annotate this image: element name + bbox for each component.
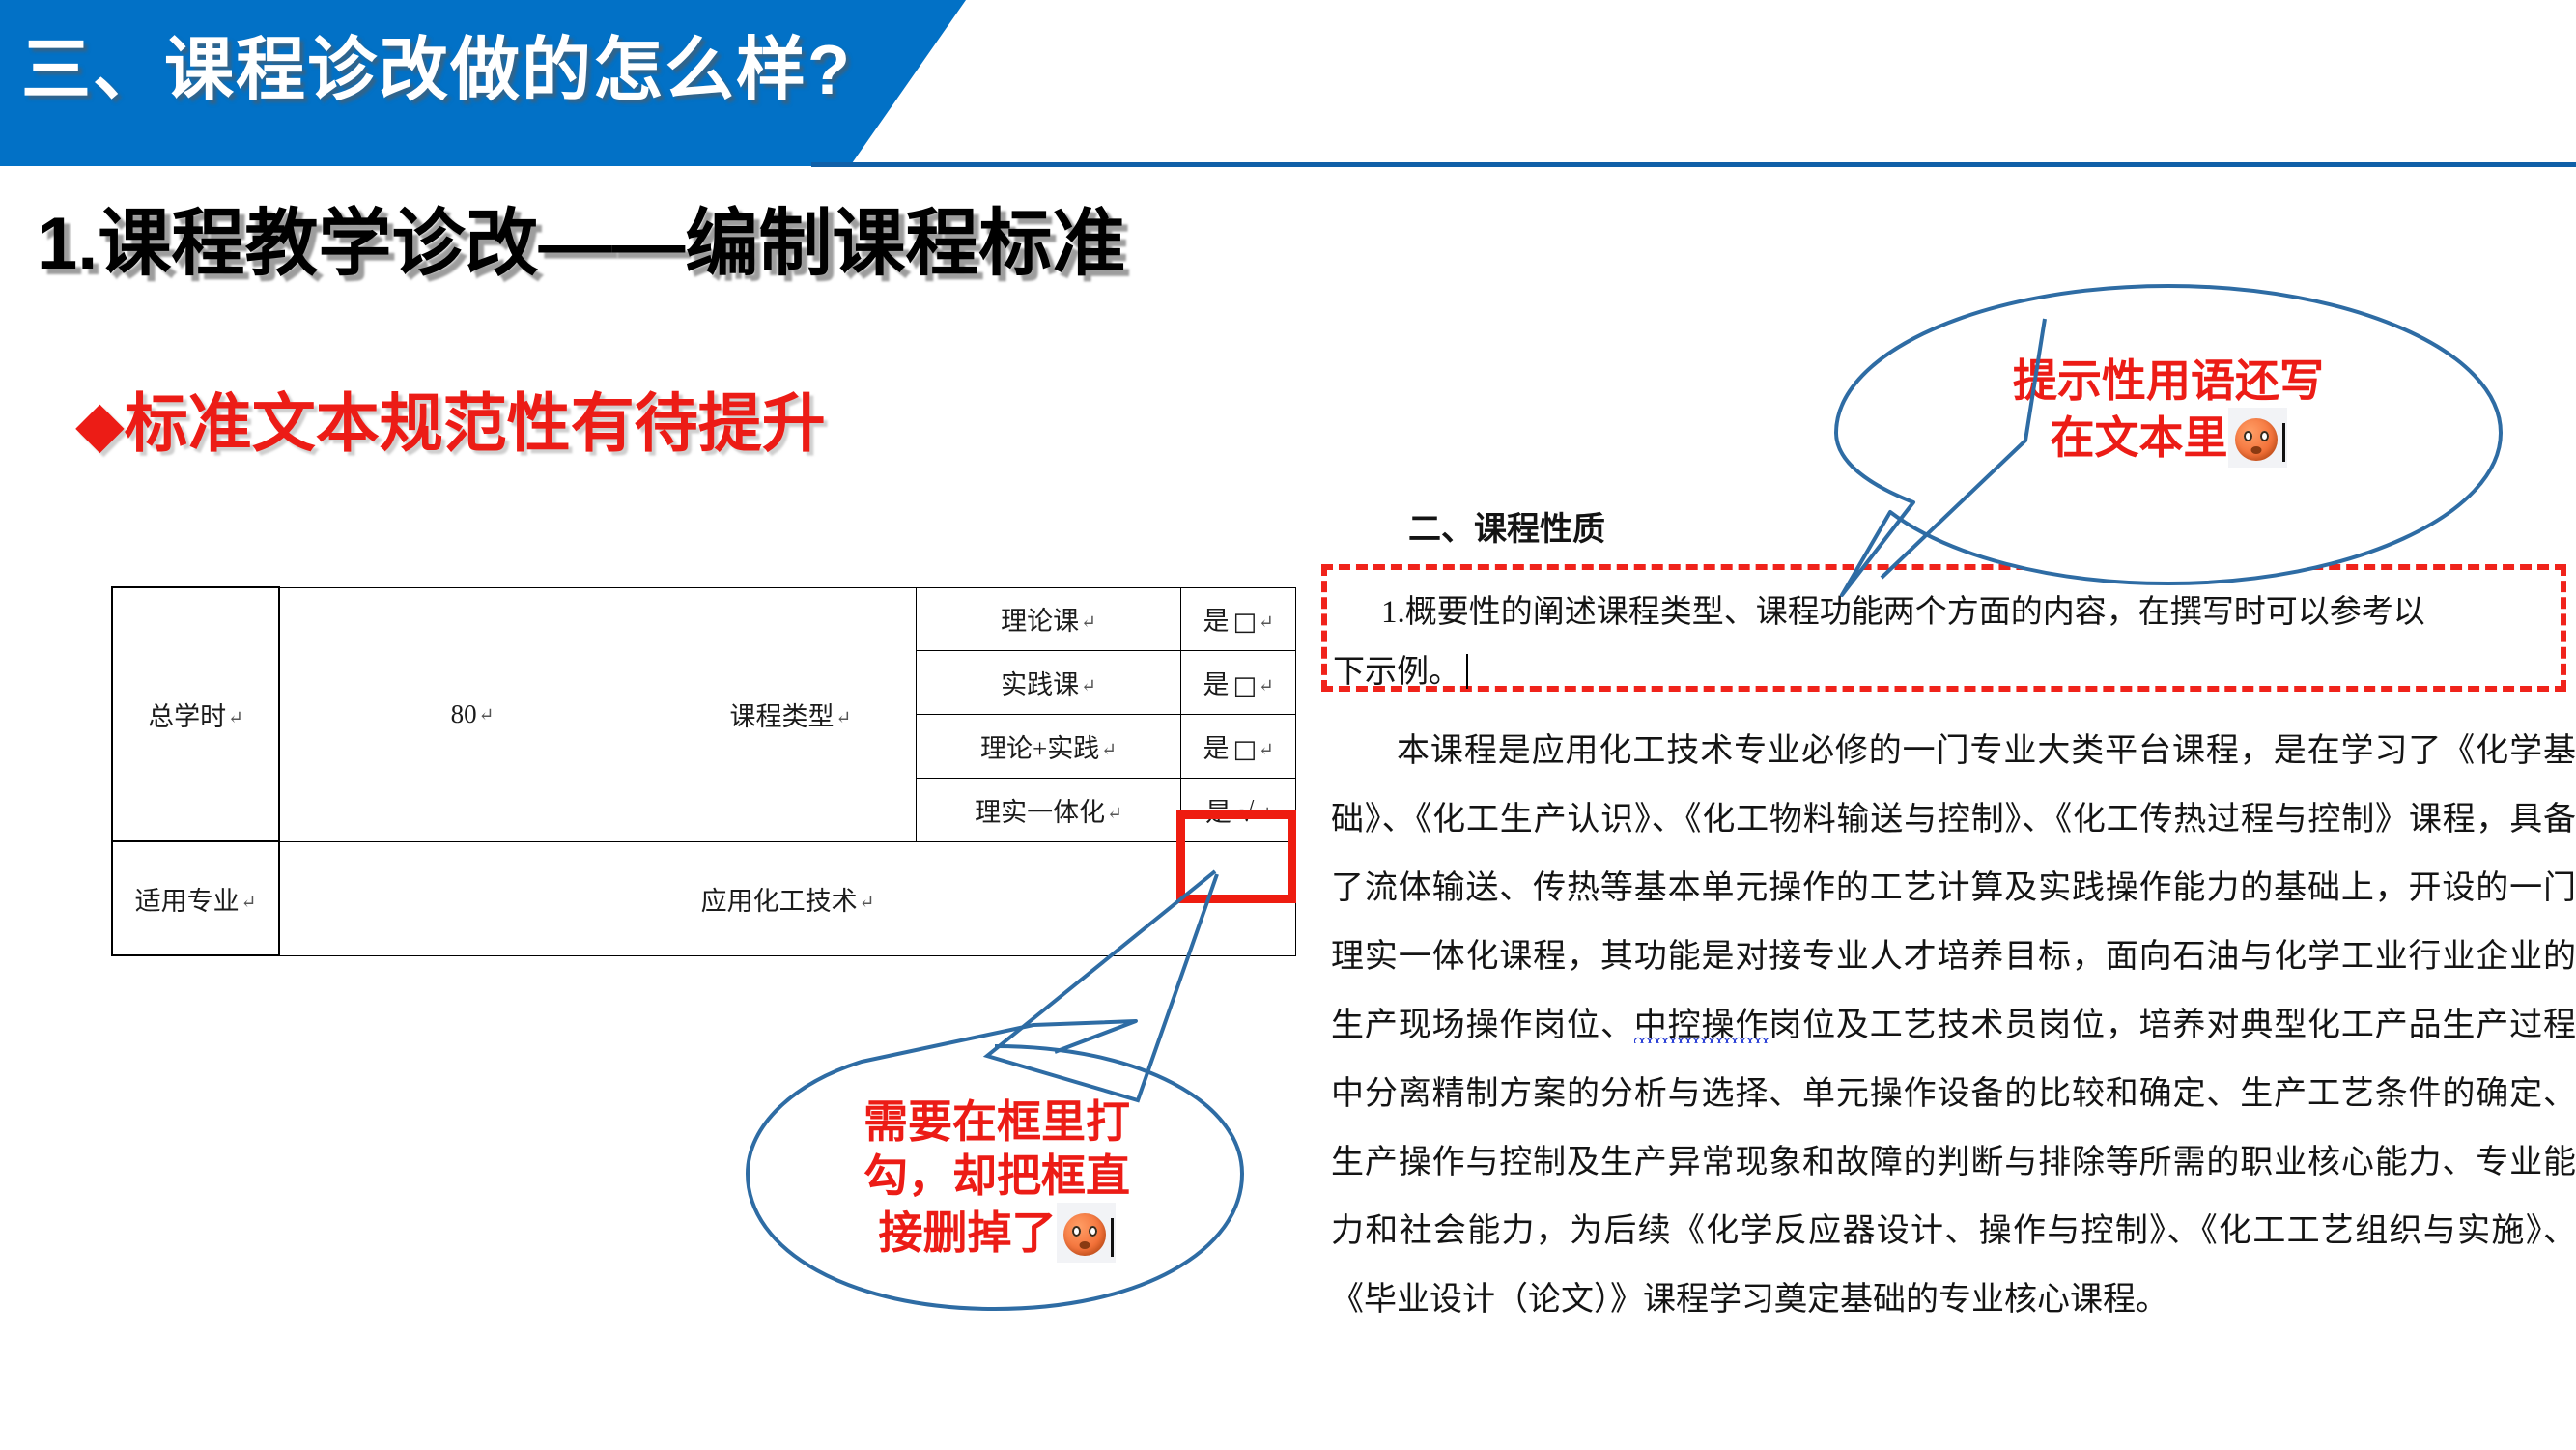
pilcrow-icon: ↵ [1081, 676, 1096, 697]
body-paragraph: 本课程是应用化工技术专业必修的一门专业大类平台课程，是在学习了《化学基础》、《化… [1331, 717, 2576, 1334]
pilcrow-icon: ↵ [241, 893, 257, 913]
face-emoji-wrap [1057, 1203, 1116, 1263]
pilcrow-icon: ↵ [479, 705, 495, 725]
cell-option-name-3: 理实一体化↵ [916, 778, 1181, 841]
face-emoji-wrap [2228, 408, 2287, 468]
banner-underline-rule [811, 162, 2576, 167]
cell-course-type-label: 课程类型↵ [665, 587, 917, 841]
answer-label: 是 [1203, 670, 1229, 699]
text-cursor-icon [1111, 1218, 1114, 1257]
slide: 三、课程诊改做的怎么样? 1.课程教学诊改——编制课程标准 ◆标准文本规范性有待… [0, 0, 2576, 1450]
face-emoji-icon [2235, 418, 2278, 461]
word-document: 二、课程性质 1.概要性的阐述课程类型、课程功能两个方面的内容，在撰写时可以参考… [1331, 502, 2576, 1430]
emoji-mouth [2250, 446, 2261, 454]
option-name: 理实一体化 [975, 798, 1105, 827]
option-name: 理论课 [1001, 607, 1079, 636]
pilcrow-icon: ↵ [835, 708, 851, 728]
course-type-label: 课程类型 [729, 702, 834, 731]
callout-bottom-line-3: 接删掉了 [879, 1208, 1057, 1258]
major-value: 应用化工技术 [701, 887, 858, 916]
cell-option-name-2: 理论+实践↵ [916, 715, 1181, 779]
page-title: 1.课程教学诊改——编制课程标准 [37, 184, 1125, 290]
callout-bottom: 需要在框里打 勾，却把框直 接删掉了 [715, 1019, 1275, 1386]
note-line-2-wrap: 下示例。 [1333, 645, 1468, 692]
callout-bottom-line-2: 勾，却把框直 [775, 1149, 1219, 1203]
callout-bottom-text: 需要在框里打 勾，却把框直 接删掉了 [775, 1095, 1219, 1263]
banner-title: 三、课程诊改做的怎么样? [21, 17, 939, 124]
header-banner: 三、课程诊改做的怎么样? [0, 0, 2576, 174]
pilcrow-icon: ↵ [1259, 740, 1274, 760]
emoji-mouth [1079, 1241, 1090, 1249]
answer-label: 是 [1203, 607, 1229, 636]
pilcrow-icon: ↵ [1081, 612, 1096, 633]
cell-major-value: 应用化工技术↵ [279, 841, 1295, 955]
checkbox-highlight-box [1176, 810, 1296, 903]
option-name: 实践课 [1001, 670, 1079, 699]
table-row: 总学时↵ 80↵ 课程类型↵ 理论课↵ 是□↵ [112, 587, 1296, 651]
text-cursor-icon [1466, 654, 1468, 689]
checkbox-empty-icon[interactable]: □ [1232, 608, 1257, 637]
total-hours-value: 80 [451, 699, 477, 728]
cell-option-answer-1[interactable]: 是□↵ [1181, 651, 1296, 715]
note-line-2: 下示例。 [1333, 655, 1460, 690]
cell-option-answer-0[interactable]: 是□↵ [1181, 587, 1296, 651]
text-cursor-icon [2282, 423, 2285, 462]
callout-top-text: 提示性用语还写 在文本里 [1946, 354, 2391, 468]
pilcrow-icon: ↵ [1101, 740, 1117, 760]
face-emoji-icon [1063, 1213, 1106, 1256]
document-section-heading: 二、课程性质 [1408, 502, 1605, 550]
pilcrow-icon: ↵ [1259, 676, 1274, 697]
checkbox-empty-icon[interactable]: □ [1232, 671, 1257, 700]
total-hours-label: 总学时 [148, 702, 226, 731]
callout-top-line-1: 提示性用语还写 [1946, 354, 2391, 408]
callout-top-line-2: 在文本里 [2051, 412, 2228, 463]
course-info-table: 总学时↵ 80↵ 课程类型↵ 理论课↵ 是□↵ 实践课↵ 是□↵ [111, 586, 1296, 956]
cell-option-answer-2[interactable]: 是□↵ [1181, 715, 1296, 779]
body-text-part-1: 本课程是应用化工技术专业必修的一门专业大类平台课程，是在学习了《化学基础》、《化… [1331, 733, 2576, 1043]
checkbox-empty-icon[interactable]: □ [1232, 735, 1257, 764]
cell-option-name-0: 理论课↵ [916, 587, 1181, 651]
callout-bottom-line-3-wrap: 接删掉了 [775, 1203, 1219, 1263]
table-row: 适用专业↵ 应用化工技术↵ [112, 841, 1296, 955]
cell-major-label: 适用专业↵ [112, 841, 279, 955]
callout-top-line-2-wrap: 在文本里 [1946, 408, 2391, 468]
cell-total-hours-value: 80↵ [279, 587, 665, 841]
option-name: 理论+实践 [980, 734, 1099, 763]
callout-top: 提示性用语还写 在文本里 [1830, 280, 2506, 599]
subsection-title: ◆标准文本规范性有待提升 [75, 372, 826, 465]
major-label: 适用专业 [135, 887, 240, 916]
cell-option-name-1: 实践课↵ [916, 651, 1181, 715]
callout-bottom-line-1: 需要在框里打 [775, 1095, 1219, 1149]
document-body: 本课程是应用化工技术专业必修的一门专业大类平台课程，是在学习了《化学基础》、《化… [1331, 717, 2576, 1334]
pilcrow-icon: ↵ [860, 893, 875, 913]
pilcrow-icon: ↵ [1107, 804, 1122, 824]
pilcrow-icon: ↵ [1259, 612, 1274, 633]
body-text-part-2: 岗位及工艺技术员岗位，培养对典型化工产品生产过程中分离精制方案的分析与选择、单元… [1331, 1008, 2576, 1318]
answer-label: 是 [1203, 734, 1229, 763]
spellcheck-underlined-text: 中控操作 [1634, 1008, 1769, 1048]
cell-total-hours-label: 总学时↵ [112, 587, 279, 841]
pilcrow-icon: ↵ [228, 708, 243, 728]
